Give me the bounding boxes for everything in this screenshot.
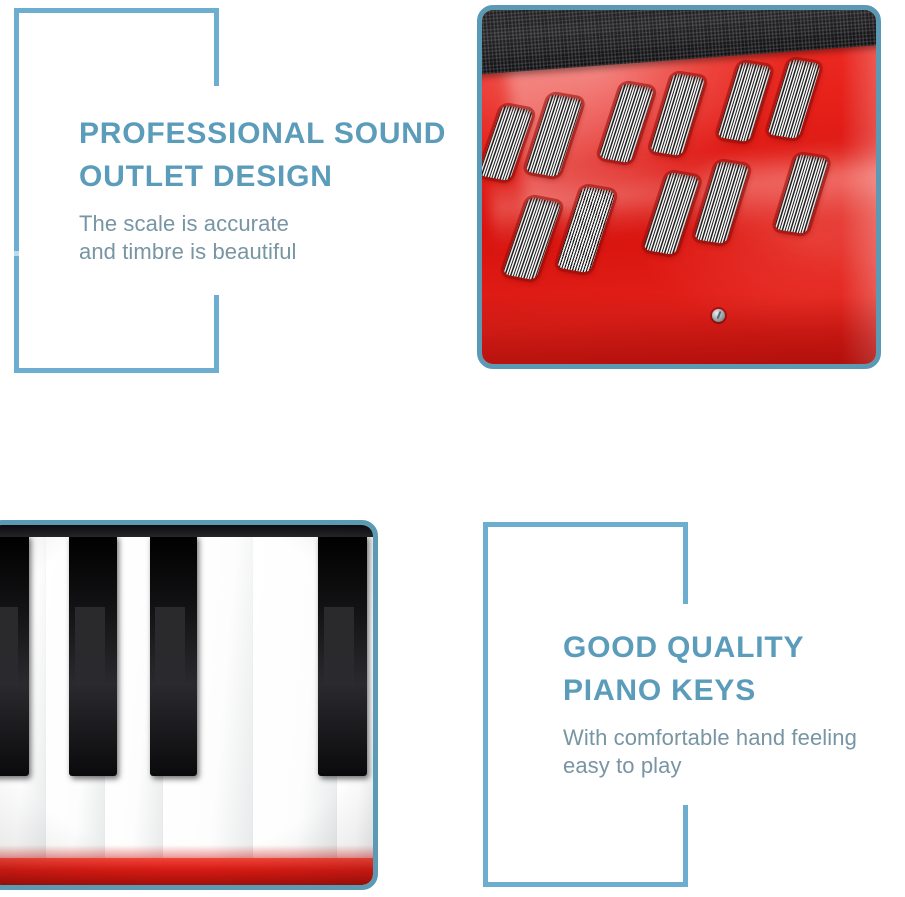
bracket-top-rail — [14, 8, 219, 13]
panel-heading: PROFESSIONAL SOUND OUTLET DESIGN — [79, 113, 479, 198]
piano-keyboard — [0, 525, 373, 885]
melodica-edge-shadow — [482, 293, 876, 364]
bracket-right-stub-bottom — [214, 295, 219, 373]
bracket-left-rail — [14, 8, 19, 373]
panel-subtitle: With comfortable hand feeling easy to pl… — [563, 724, 905, 780]
bracket-left-rail — [483, 522, 488, 887]
sound-outlet-photo — [477, 5, 881, 369]
panel-professional-sound-outlet-design: PROFESSIONAL SOUND OUTLET DESIGN The sca… — [14, 8, 219, 373]
bracket-right-stub-top — [214, 8, 219, 86]
bracket-bottom-rail — [14, 368, 219, 373]
sound-outlet-photo-inner — [482, 10, 876, 364]
bracket-right-stub-top — [683, 522, 688, 604]
panel-good-quality-piano-keys: GOOD QUALITY PIANO KEYS With comfortable… — [483, 522, 688, 887]
piano-keys-photo-inner — [0, 525, 373, 885]
bracket-top-rail — [483, 522, 688, 527]
bracket-left-seam — [14, 251, 19, 256]
panel-heading: GOOD QUALITY PIANO KEYS — [563, 627, 905, 712]
piano-keys-photo — [0, 520, 378, 890]
infographic-canvas: PROFESSIONAL SOUND OUTLET DESIGN The sca… — [0, 0, 905, 897]
panel-subtitle: The scale is accurate and timbre is beau… — [79, 210, 479, 266]
bracket-bottom-rail — [483, 882, 688, 887]
bracket-right-stub-bottom — [683, 805, 688, 887]
piano-vignette — [0, 525, 373, 885]
